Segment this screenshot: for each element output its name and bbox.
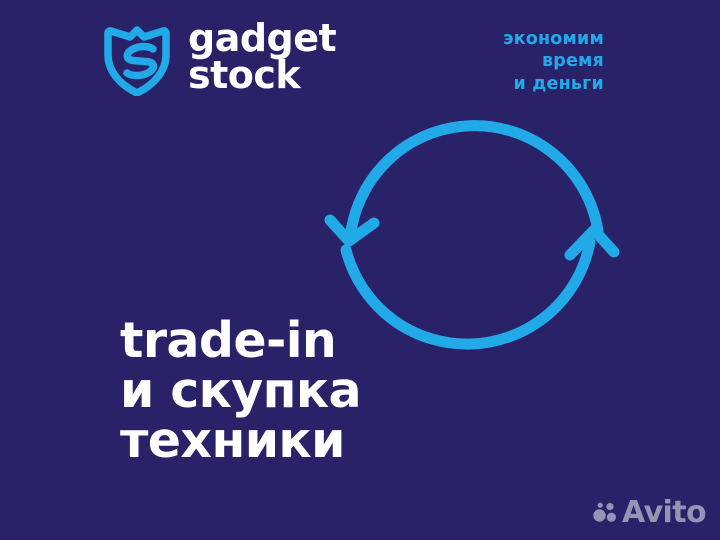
promo-banner: gadget stock экономим время и деньги tra… [0,0,720,540]
shield-logo-icon [100,18,174,96]
brand-lockup: gadget stock [100,18,336,96]
wordmark-line-gadget: gadget [188,20,336,57]
tagline: экономим время и деньги [503,28,604,95]
headline-line-1: trade-in [120,316,361,366]
headline: trade-in и скупка техники [120,316,361,466]
wordmark-line-stock: stock [188,57,336,94]
brand-wordmark: gadget stock [188,20,336,94]
headline-line-3: техники [120,416,361,466]
tagline-line-1: экономим [503,28,604,50]
headline-line-2: и скупка [120,366,361,416]
avito-dots-icon [593,502,617,524]
avito-watermark: Avito [593,498,706,528]
avito-label: Avito [622,498,706,528]
tagline-line-2: время [503,50,604,72]
circular-exchange-arrows-icon [320,92,620,382]
